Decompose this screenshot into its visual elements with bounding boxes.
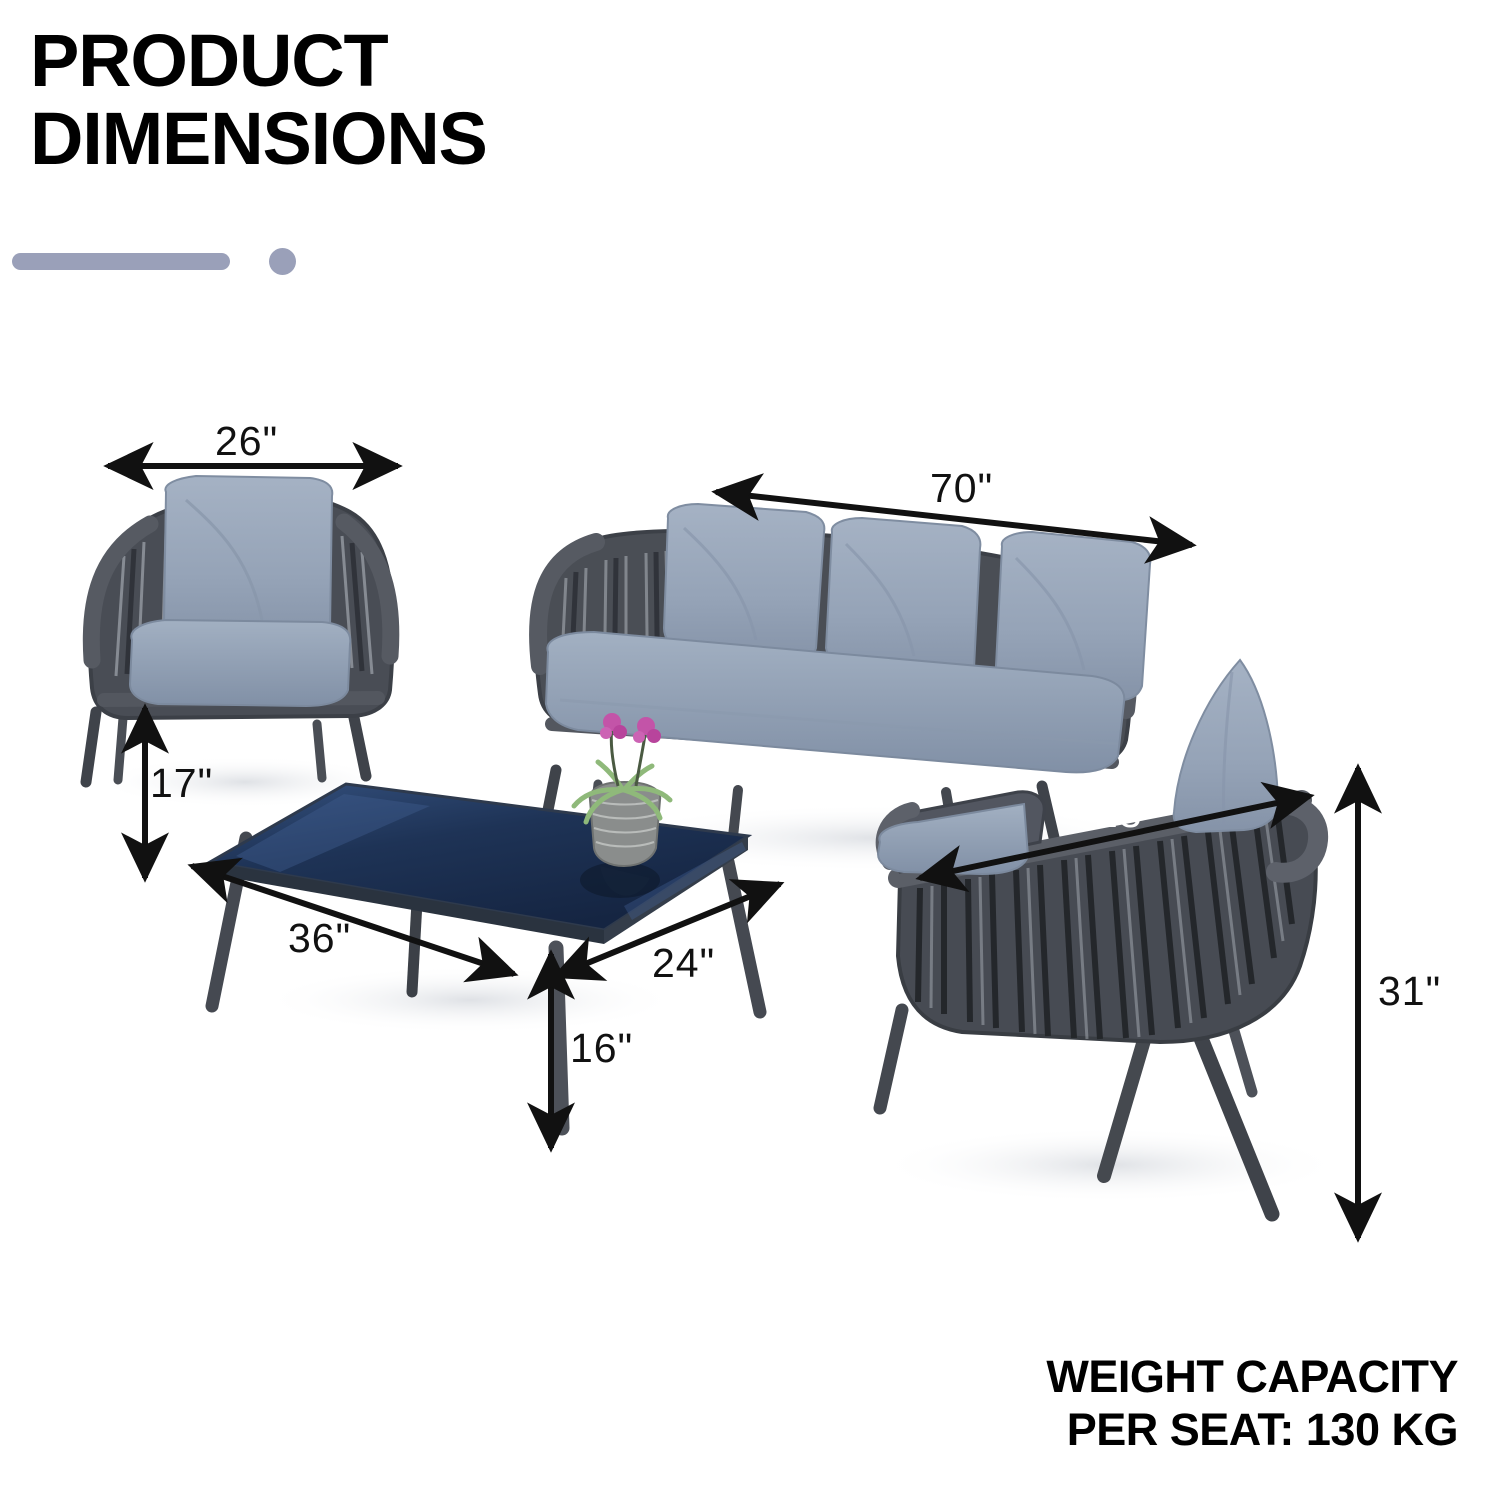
dim-label-chair-right-width: 28": [1095, 790, 1158, 837]
weight-capacity-note: WEIGHT CAPACITY PER SEAT: 130 KG: [1046, 1350, 1458, 1456]
armchair-left-seat-cushion: [130, 620, 350, 706]
dim-label-table-depth: 24": [652, 940, 715, 987]
dim-label-chair-left-height: 17": [150, 760, 213, 807]
product-scene: [0, 0, 1500, 1500]
dim-label-table-length: 36": [288, 915, 351, 962]
dim-label-chair-right-height: 31": [1378, 968, 1441, 1015]
dim-label-sofa-width: 70": [930, 465, 993, 512]
infographic-page: PRODUCT DIMENSIONS: [0, 0, 1500, 1500]
weight-capacity-line-1: WEIGHT CAPACITY: [1046, 1350, 1458, 1403]
armchair-left: [86, 476, 393, 782]
dim-label-table-height: 16": [570, 1025, 633, 1072]
weight-capacity-line-2: PER SEAT: 130 KG: [1046, 1403, 1458, 1456]
plant-pot: [590, 782, 660, 866]
sofa-back-pillow-1: [664, 504, 824, 662]
dim-label-chair-left-width: 26": [215, 418, 278, 465]
